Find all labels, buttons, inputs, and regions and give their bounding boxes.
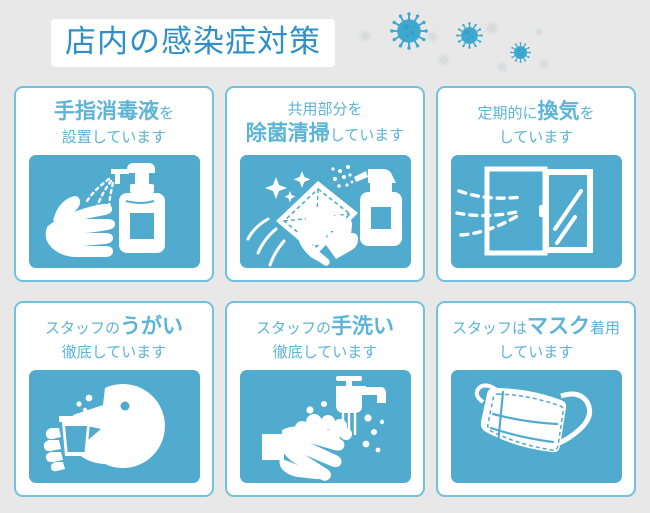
spray-cleaning-icon [240, 155, 411, 268]
measure-caption: スタッフはマスク着用しています [447, 313, 625, 363]
caption-emphasis: 手指消毒液 [54, 99, 159, 123]
caption-text: 徹底しています [62, 343, 167, 361]
caption-line: 徹底しています [236, 341, 414, 363]
virus-large-solid [390, 12, 428, 50]
open-window-icon [451, 155, 622, 268]
caption-text: 定期的に [477, 104, 537, 122]
measure-illustration-panel [451, 155, 622, 268]
caption-line: しています [447, 126, 625, 148]
virus-ghost-6 [534, 22, 544, 32]
caption-text: 着用 [590, 319, 620, 337]
measure-illustration-panel [240, 155, 411, 268]
caption-line: 共用部分を [236, 98, 414, 120]
caption-text: しています [499, 343, 574, 361]
caption-line: スタッフのうがい [25, 313, 203, 341]
caption-text: スタッフの [256, 319, 331, 337]
measure-illustration-panel [240, 370, 411, 483]
face-mask-icon [451, 370, 622, 483]
caption-line: しています [447, 341, 625, 363]
caption-text: を [580, 104, 595, 122]
measure-caption: スタッフのうがい徹底しています [25, 313, 203, 363]
measure-card-staff-gargling: スタッフのうがい徹底しています [14, 301, 214, 497]
caption-emphasis: うがい [120, 314, 183, 338]
measure-card-ventilation: 定期的に換気をしています [436, 86, 636, 282]
virus-ghost-7 [538, 55, 550, 67]
caption-emphasis: マスク [527, 314, 590, 338]
caption-emphasis: 手洗い [331, 314, 394, 338]
virus-ghost-3 [436, 52, 451, 67]
virus-ghost-2 [426, 28, 439, 41]
caption-emphasis: 換気 [538, 99, 580, 123]
handwashing-icon [240, 370, 411, 483]
measure-caption: 定期的に換気をしています [447, 98, 625, 148]
caption-text: スタッフの [45, 319, 120, 337]
caption-text: を [159, 104, 174, 122]
caption-line: 徹底しています [25, 341, 203, 363]
caption-text: 徹底しています [273, 343, 378, 361]
measure-card-hand-sanitizer: 手指消毒液を設置しています [14, 86, 214, 282]
measure-card-staff-mask: スタッフはマスク着用しています [436, 301, 636, 497]
hand-sanitizer-icon [29, 155, 200, 268]
virus-ghost-1 [358, 28, 372, 42]
caption-text: 共用部分を [287, 100, 362, 118]
virus-small-solid [510, 42, 531, 63]
measure-illustration-panel [29, 370, 200, 483]
measure-caption: スタッフの手洗い徹底しています [236, 313, 414, 363]
virus-ghost-4 [484, 20, 500, 36]
measure-caption: 共用部分を除菌清掃しています [236, 98, 414, 148]
caption-text: スタッフは [452, 319, 527, 337]
caption-line: 定期的に換気を [447, 98, 625, 126]
virus-medium-solid [456, 22, 483, 49]
caption-line: スタッフはマスク着用 [447, 313, 625, 341]
gargling-icon [29, 370, 200, 483]
measure-card-disinfection-cleaning: 共用部分を除菌清掃しています [225, 86, 425, 282]
caption-line: 除菌清掃しています [236, 120, 414, 148]
measure-illustration-panel [29, 155, 200, 268]
measures-grid: 手指消毒液を設置しています 共用部分を除菌清掃しています [14, 86, 636, 497]
caption-emphasis: 除菌清掃 [246, 121, 330, 145]
caption-line: 設置しています [25, 126, 203, 148]
caption-line: 手指消毒液を [25, 98, 203, 126]
caption-line: スタッフの手洗い [236, 313, 414, 341]
caption-text: 設置しています [62, 128, 167, 146]
poster-header: 店内の感染症対策 [0, 0, 650, 82]
caption-text: しています [330, 126, 405, 144]
page-title: 店内の感染症対策 [65, 24, 321, 60]
measure-card-staff-handwashing: スタッフの手洗い徹底しています [225, 301, 425, 497]
virus-decoration-group [358, 0, 650, 82]
caption-text: しています [499, 128, 574, 146]
measure-caption: 手指消毒液を設置しています [25, 98, 203, 148]
virus-ghost-5 [496, 58, 508, 70]
title-plate: 店内の感染症対策 [51, 19, 335, 67]
measure-illustration-panel [451, 370, 622, 483]
